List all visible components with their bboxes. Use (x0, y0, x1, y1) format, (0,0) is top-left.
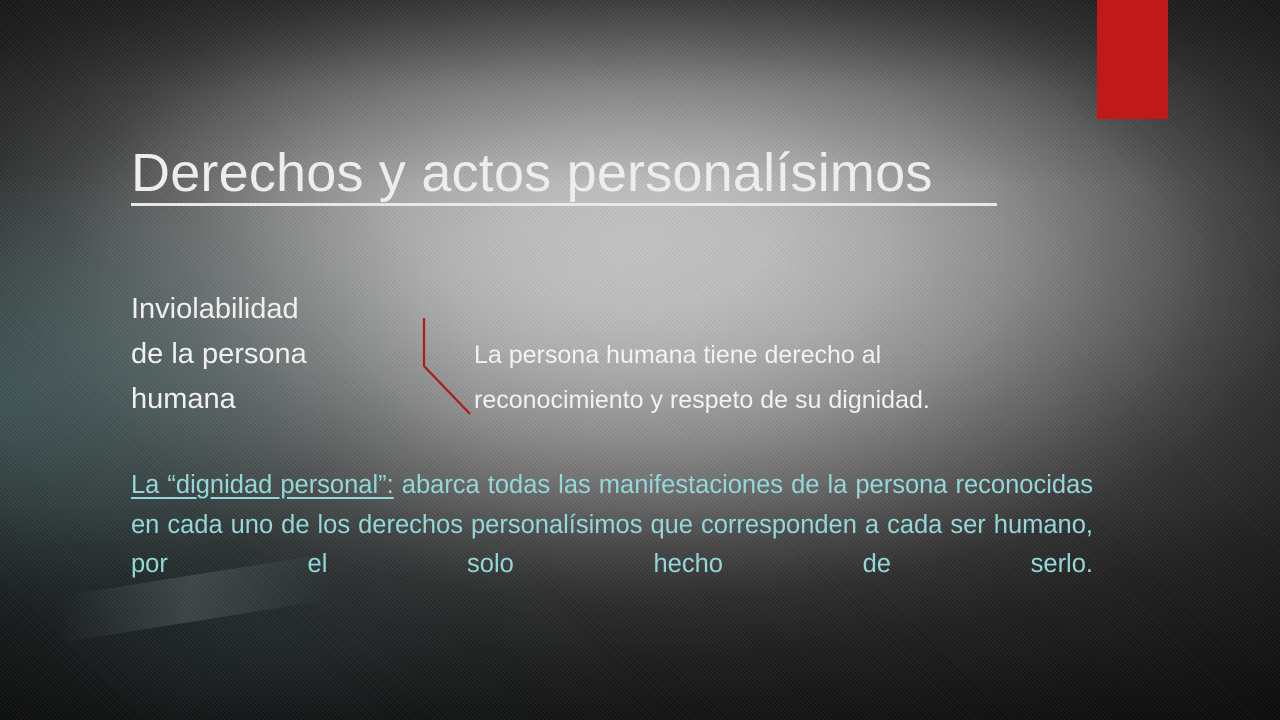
presentation-slide: Derechos y actos personalísimos Inviolab… (0, 0, 1280, 720)
red-accent-block (1097, 0, 1168, 119)
dignity-definition-paragraph: La “dignidad personal”: abarca todas las… (131, 466, 1093, 624)
right-statement-line-2: reconocimiento y respeto de su dignidad. (474, 378, 1034, 423)
dignity-definition-lead: La “dignidad personal”: (131, 471, 394, 499)
left-label-line-1: Inviolabilidad (131, 287, 421, 332)
left-label-line-2: de la persona (131, 332, 421, 377)
slide-title-underline (131, 203, 997, 206)
left-label-line-3: humana (131, 377, 421, 422)
slide-title: Derechos y actos personalísimos (131, 143, 1131, 203)
left-label-block: Inviolabilidad de la persona humana (131, 287, 421, 422)
right-statement-line-1: La persona humana tiene derecho al (474, 333, 1034, 378)
right-statement-paragraph: La persona humana tiene derecho al recon… (474, 333, 1034, 423)
